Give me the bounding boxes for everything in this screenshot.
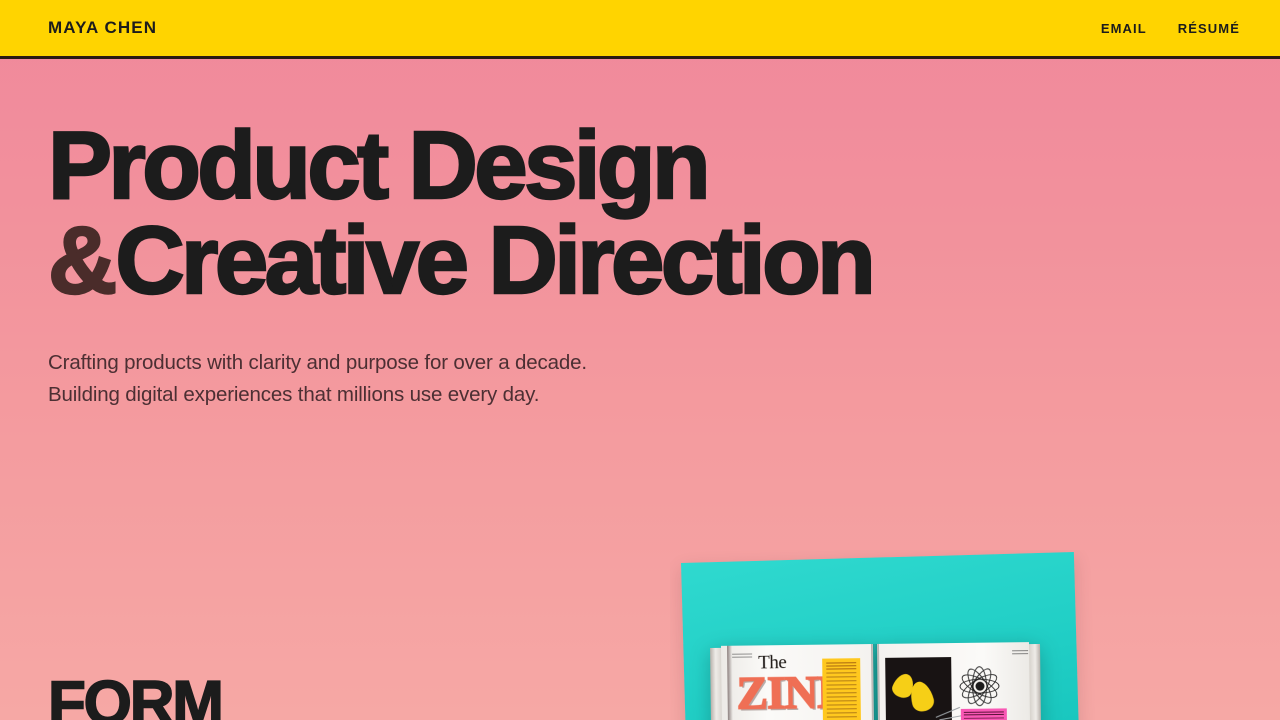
site-header: MAYA CHEN EMAIL RÉSUMÉ (0, 0, 1280, 59)
headline-line-1: Product Design (48, 112, 707, 219)
sidebar-body-lines (826, 672, 857, 720)
section-heading-form: FORM (48, 673, 222, 720)
page-edge-right (1029, 644, 1041, 720)
headline-line-2: Creative Direction (115, 207, 872, 314)
hero-section: Product Design &Creative Direction Craft… (48, 118, 1048, 411)
page-title: Product Design &Creative Direction (48, 118, 1048, 308)
main-nav: EMAIL RÉSUMÉ (1101, 21, 1240, 36)
hero-photo: The ZINE (670, 550, 1100, 720)
subtitle-line-2: Building digital experiences that millio… (48, 379, 1048, 411)
nav-link-resume[interactable]: RÉSUMÉ (1178, 21, 1240, 36)
subtitle-line-1: Crafting products with clarity and purpo… (48, 347, 1048, 379)
sticky-heading-lines (964, 711, 1004, 715)
pink-sticky-note (961, 708, 1007, 720)
magazine-gutter (871, 644, 880, 720)
atom-diagram-icon (958, 664, 1001, 707)
micro-text-block (732, 653, 752, 659)
sidebar-heading-lines (826, 662, 856, 669)
headline-ampersand: & (48, 207, 115, 314)
open-magazine: The ZINE (710, 642, 1041, 720)
site-logo[interactable]: MAYA CHEN (48, 18, 157, 38)
yellow-sidebar (822, 658, 861, 720)
nav-link-email[interactable]: EMAIL (1101, 21, 1147, 36)
hero-subtitle: Crafting products with clarity and purpo… (48, 347, 1048, 411)
page-corner-marks (1012, 650, 1028, 655)
